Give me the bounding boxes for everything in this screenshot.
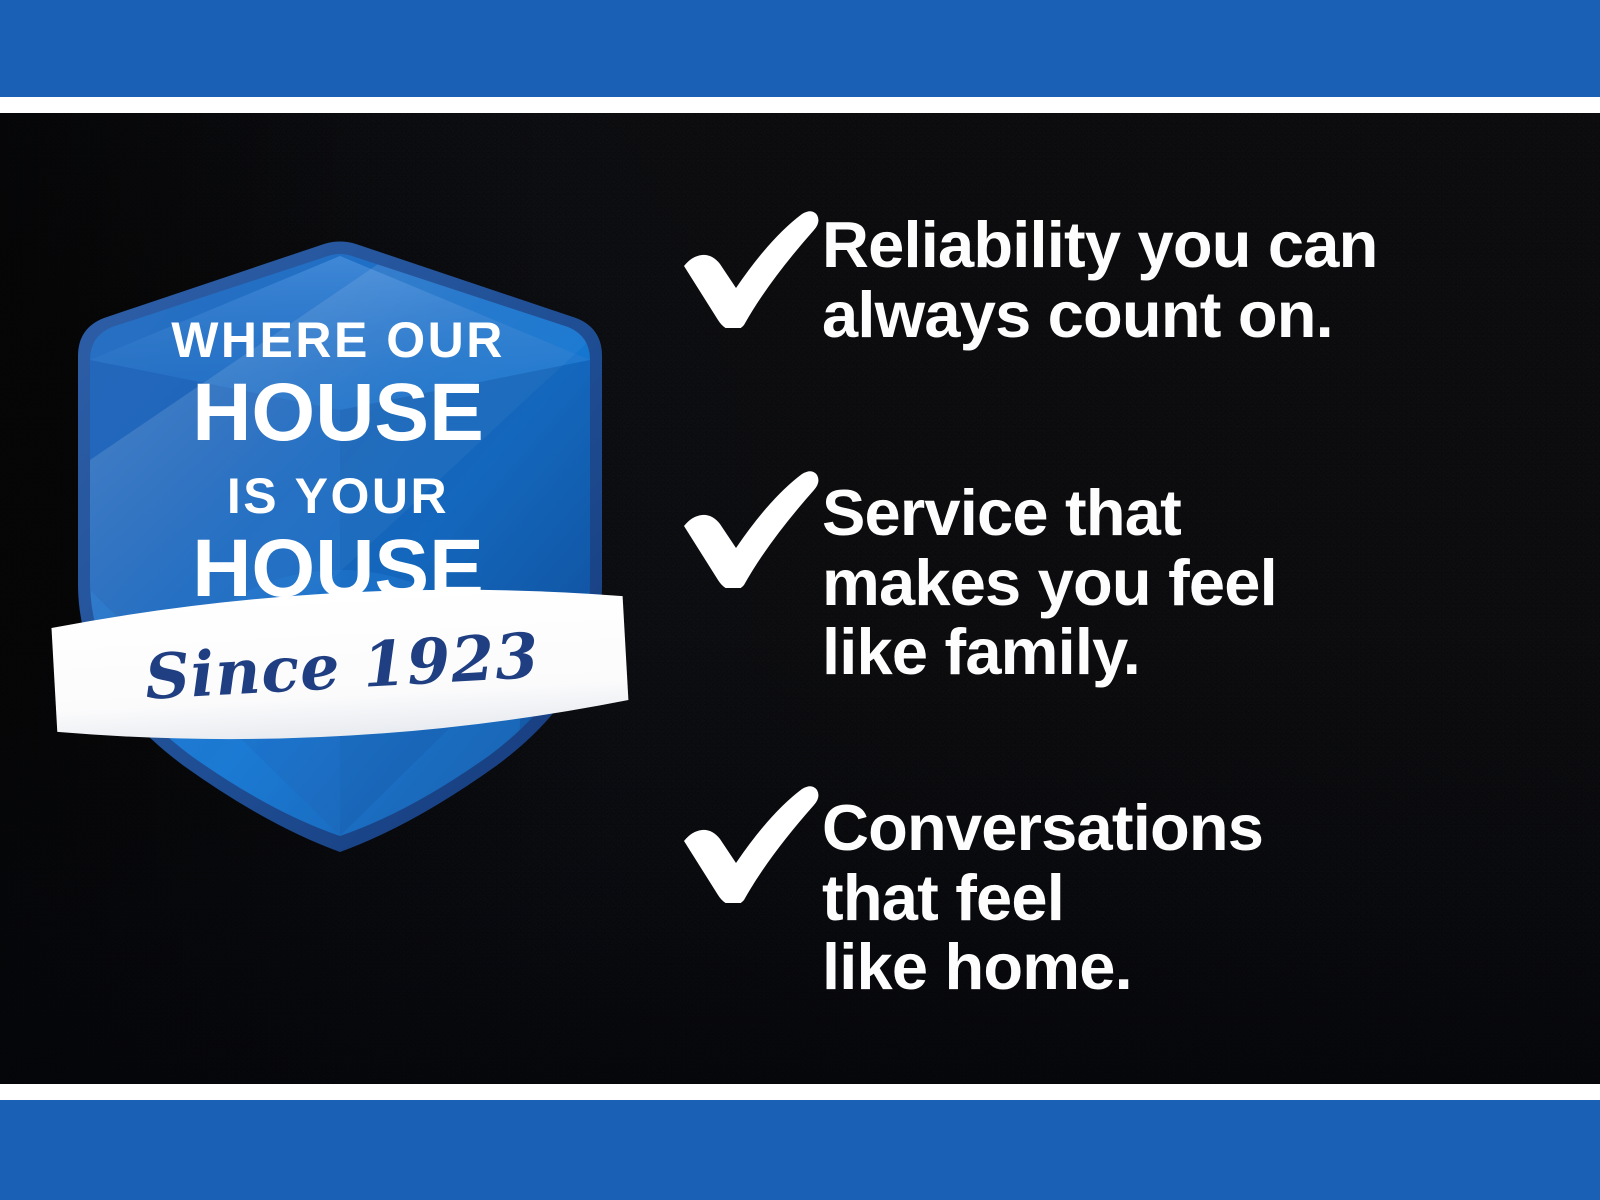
checkmark-icon: [672, 208, 822, 328]
promo-graphic: WHERE OUR HOUSE IS YOUR HOUSE Since 1923…: [0, 0, 1600, 1200]
benefit-text-3: Conversations that feel like home.: [822, 783, 1263, 1002]
checkmark-icon: [672, 783, 822, 903]
benefit-text-1: Reliability you can always count on.: [822, 208, 1378, 349]
top-white-rule: [0, 97, 1600, 113]
benefits-list: Reliability you can always count on. Ser…: [672, 113, 1532, 1084]
checkmark-icon: [672, 468, 822, 588]
shield-line-3: IS YOUR: [227, 468, 449, 524]
benefit-text-2: Service that makes you feel like family.: [822, 468, 1277, 687]
bottom-brand-band: [0, 1100, 1600, 1200]
shield-emblem: WHERE OUR HOUSE IS YOUR HOUSE Since 1923: [60, 160, 620, 800]
top-brand-band: [0, 0, 1600, 97]
benefit-item-1: Reliability you can always count on.: [672, 208, 1378, 349]
bottom-white-rule: [0, 1084, 1600, 1100]
shield-line-1: WHERE OUR: [171, 312, 505, 368]
benefit-item-2: Service that makes you feel like family.: [672, 468, 1277, 687]
shield-line-2: HOUSE: [192, 367, 484, 458]
benefit-item-3: Conversations that feel like home.: [672, 783, 1263, 1002]
